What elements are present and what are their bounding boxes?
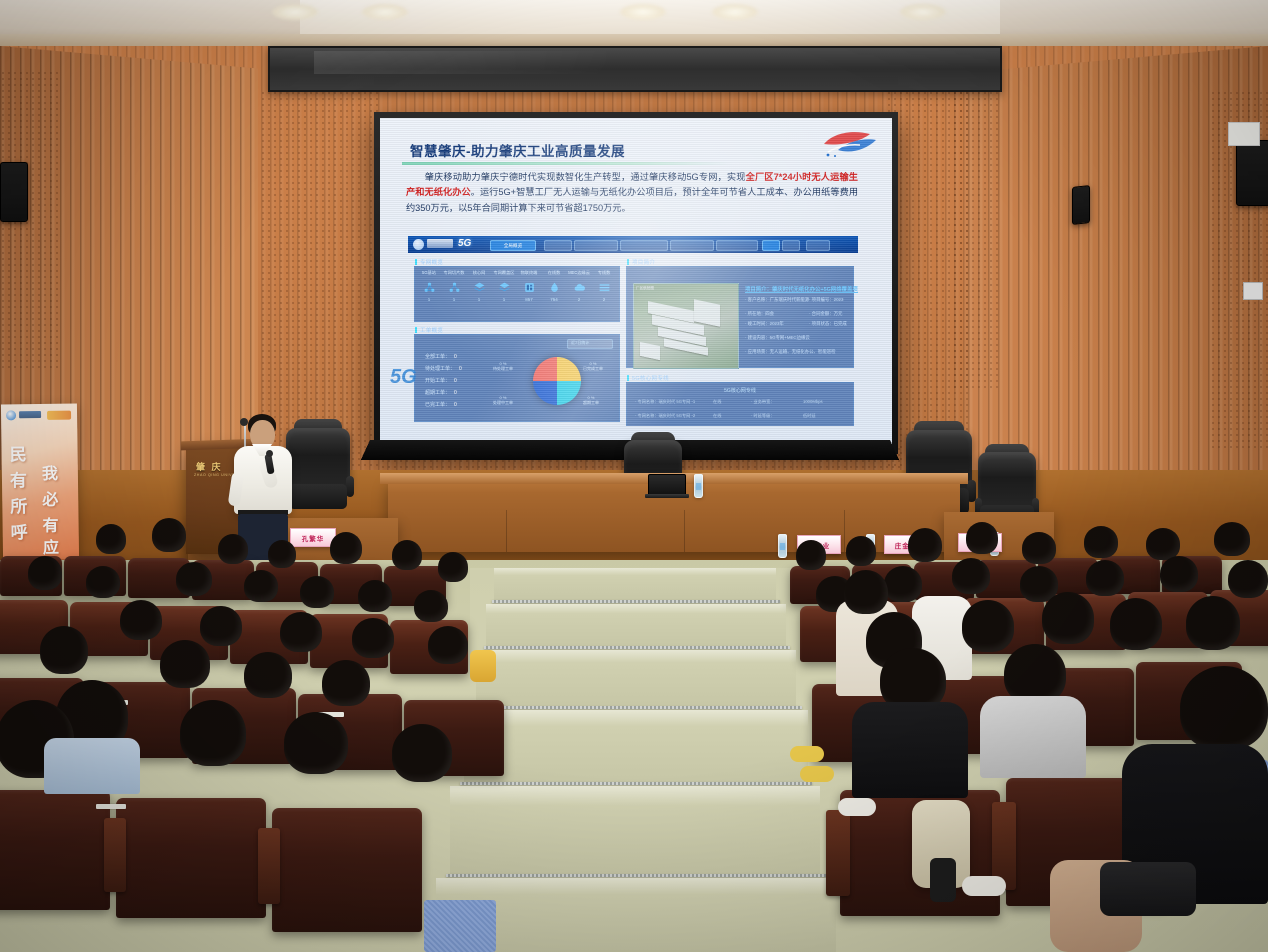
china-mobile-wordmark xyxy=(427,239,453,248)
banner-line2-char1: 我 xyxy=(42,460,58,484)
china-mobile-logo-icon xyxy=(413,239,424,250)
stat-value-2: 1 xyxy=(471,297,487,302)
section-project-title: 项目简介 xyxy=(632,258,655,266)
audience-member-shorts xyxy=(1100,862,1196,916)
soundbar-gloss xyxy=(314,51,606,74)
auditorium-photo: 智慧肇庆-助力肇庆工业高质量发展 肇庆移动助力肇庆宁德时代实现数智化生产转型，通… xyxy=(0,0,1268,952)
seat-number-label xyxy=(96,804,126,809)
banner-line2-char3: 有 xyxy=(42,512,58,536)
dashboard-screenshot: 5G 全局概览 专网概览 5G基站 专网切片 xyxy=(408,236,858,426)
project-row: · 合同金额：万元 xyxy=(809,311,842,317)
audience-member xyxy=(180,700,246,766)
audience-member xyxy=(438,552,468,582)
project-row: · 项目状态：已完成 xyxy=(809,321,847,327)
audience-member xyxy=(844,570,888,614)
nav-tab-active[interactable]: 全局概览 xyxy=(490,240,536,251)
audience-member xyxy=(884,566,922,602)
audience-member xyxy=(1022,532,1056,564)
workorder-range-label: 近7日统计 xyxy=(571,340,589,346)
seat-armrest xyxy=(826,810,850,896)
audience-member xyxy=(352,618,394,658)
audience-member xyxy=(428,626,468,664)
audience-member xyxy=(1086,560,1124,596)
shoe xyxy=(962,876,1006,896)
filter-all[interactable] xyxy=(716,240,758,251)
stat-value-4: 857 xyxy=(521,297,537,302)
banner-line1-char2: 有 xyxy=(10,466,27,491)
section-network-title: 专网概览 xyxy=(420,258,443,266)
led-presentation-screen: 智慧肇庆-助力肇庆工业高质量发展 肇庆移动助力肇庆宁德时代实现数智化生产转型，通… xyxy=(374,112,898,454)
wall-speaker-left xyxy=(0,162,28,222)
workorder-row: 待处理工单：0 xyxy=(425,365,462,372)
project-row: · 应用场景：无人运输、无纸化办公、智能巡检 xyxy=(745,349,836,355)
network-node-icon xyxy=(448,281,461,294)
aisle-step xyxy=(476,650,796,708)
stat-label-3: 专网覆盖区 xyxy=(492,270,516,276)
audience-member xyxy=(40,626,88,674)
stage-laptop[interactable] xyxy=(648,474,686,496)
audience-member xyxy=(218,534,248,564)
filter-center[interactable] xyxy=(670,240,714,251)
project-row: · 项目编号：2023 xyxy=(809,297,843,303)
project-row: · 客户名称：广东瑞庆时代新能源 xyxy=(745,297,809,303)
audience-member xyxy=(392,540,422,570)
stat-value-3: 1 xyxy=(496,297,512,302)
slide-body-text: 肇庆移动助力肇庆宁德时代实现数智化生产转型，通过肇庆移动5G专网，实现全厂区7*… xyxy=(406,170,858,216)
table-row: · 专网名称：瑞庆时代 5G专网 -1 xyxy=(635,399,695,405)
audience-member xyxy=(244,570,278,602)
audience-member xyxy=(1186,596,1240,650)
aisle-step-edge xyxy=(484,646,790,649)
audience-member xyxy=(392,724,452,782)
audience-member xyxy=(330,532,362,564)
droplet-icon xyxy=(548,281,561,294)
audience-member xyxy=(358,580,392,612)
stat-label-1: 专网切片数 xyxy=(442,270,466,276)
aerial-caption: 厂区航拍图 xyxy=(636,286,654,291)
center-aisle xyxy=(470,568,800,952)
china-mobile-wordmark xyxy=(19,411,41,418)
audience-member xyxy=(414,590,448,622)
stat-label-6: MEC边缘云 xyxy=(567,270,591,276)
audience-member xyxy=(268,540,296,568)
banner-badge xyxy=(47,411,71,420)
stat-label-0: 5G基站 xyxy=(417,270,441,276)
auditorium-seat[interactable] xyxy=(116,798,266,918)
filter-factory[interactable] xyxy=(574,240,618,251)
audience-member xyxy=(1214,522,1250,556)
shoe xyxy=(838,798,876,816)
slide-title-underline xyxy=(402,162,732,165)
auditorium-seat[interactable] xyxy=(272,808,422,932)
aisle-step xyxy=(436,878,836,952)
banner-line1-char3: 所 xyxy=(10,492,27,517)
aisle-step-edge xyxy=(472,706,802,709)
microphone-head xyxy=(266,450,273,457)
shoe xyxy=(800,766,834,782)
slide-5g-watermark: 5G xyxy=(390,366,417,389)
wall-speaker-right-inner xyxy=(1072,185,1090,225)
stat-value-1: 1 xyxy=(446,297,462,302)
audience-member xyxy=(322,660,370,706)
audience-member xyxy=(796,540,826,570)
aisle-step-edge xyxy=(446,874,826,877)
network-node-icon xyxy=(423,281,436,294)
audience-member-tshirt xyxy=(852,702,968,798)
china-mobile-logo-icon xyxy=(6,410,16,420)
audience-member xyxy=(28,556,62,590)
audience-member xyxy=(1228,560,1268,598)
banner-line2-char2: 必 xyxy=(42,486,58,510)
wall-speaker-right xyxy=(1236,140,1268,206)
standing-banner: 民 有 所 呼 我 必 有 应 xyxy=(1,403,79,560)
audience-member xyxy=(280,612,322,652)
audience-member xyxy=(300,576,334,608)
banner-line2-char4: 应 xyxy=(43,534,59,558)
filter-base[interactable] xyxy=(620,240,668,251)
table-row: · 时延等级： xyxy=(751,413,775,419)
audience-member-tshirt xyxy=(980,696,1086,778)
section-table-title: 5G核心网专线 xyxy=(632,374,669,382)
fiveg-label: 5G xyxy=(458,238,471,249)
slide-title: 智慧肇庆-助力肇庆工业高质量发展 xyxy=(410,140,625,160)
layers-icon xyxy=(473,281,486,294)
audience-member-shirt xyxy=(44,738,140,794)
backpack-strap xyxy=(930,858,956,902)
cloud-icon xyxy=(573,281,586,294)
table-row: 1000Mbps xyxy=(803,399,823,404)
audience-member xyxy=(952,558,990,594)
body-segment-1: 肇庆移动助力肇庆宁德时代实现数智化生产转型，通过肇庆移动5G专网，实现 xyxy=(406,172,746,182)
workorder-row: 超期工单：0 xyxy=(425,389,457,396)
table-row: · 业务带宽： xyxy=(751,399,775,405)
pie-label-0: 0 %待处理工单 xyxy=(493,361,513,372)
dashboard-topbar: 5G 全局概览 xyxy=(408,236,858,253)
lectern-engraving: 肇 庆 xyxy=(196,460,223,473)
audience-member xyxy=(96,524,126,554)
wall-soundbar-strip xyxy=(268,46,1002,92)
audience-member xyxy=(284,712,348,774)
table-title: 5G核心网专线 xyxy=(627,387,853,394)
stat-value-6: 2 xyxy=(571,297,587,302)
audience-member xyxy=(160,640,210,688)
reset-button[interactable] xyxy=(782,240,800,251)
audience-member xyxy=(86,566,120,598)
workorder-pie-chart xyxy=(533,357,581,405)
ceiling-light xyxy=(900,4,946,20)
slide-surface: 智慧肇庆-助力肇庆工业高质量发展 肇庆移动助力肇庆宁德时代实现数智化生产转型，通… xyxy=(380,118,892,448)
stat-label-2: 核心网 xyxy=(467,270,491,276)
pie-label-2: 0 %超期工单 xyxy=(583,395,599,406)
pie-label-3: 0 %处理中工单 xyxy=(493,395,513,406)
audience-member xyxy=(846,536,876,566)
stat-value-0: 1 xyxy=(421,297,437,302)
auditorium-seat[interactable] xyxy=(0,790,110,910)
ceiling-light xyxy=(620,4,666,20)
aisle-step xyxy=(464,710,808,784)
audience-member xyxy=(1110,598,1162,650)
audience-member xyxy=(1160,556,1198,592)
body-segment-3: 。运行5G+智慧工厂无人运输与无纸化办公项目后，预计全年可节省人工成本、办公用纸… xyxy=(406,187,858,212)
workorder-row: 全部工单：0 xyxy=(425,353,457,360)
stat-value-7: 2 xyxy=(596,297,612,302)
table-row: 在线 xyxy=(713,399,721,405)
perforated-acoustic-panel xyxy=(260,90,380,470)
seat-armrest xyxy=(258,828,280,904)
banner-line1-char4: 呼 xyxy=(11,518,28,543)
lines-icon xyxy=(598,281,611,294)
line-table-card: 5G核心网专线 · 专网名称：瑞庆时代 5G专网 -1 在线 · 业务带宽： 1… xyxy=(626,382,854,426)
audience-member xyxy=(966,522,998,554)
ceiling-light xyxy=(362,4,408,20)
shoe xyxy=(790,746,824,762)
audience-member xyxy=(244,652,292,698)
project-card: 厂区航拍图 项目简介：肇庆时代无纸化办公+5G网络覆盖项目 · 客户名称：广东瑞… xyxy=(626,266,854,368)
network-stats-card: 5G基站 专网切片数 核心网 专网覆盖区 物联终端 在线数 MEC边缘云 专线数 xyxy=(414,266,620,322)
audience-member xyxy=(176,562,212,596)
project-row: · 所在地：四会 xyxy=(745,311,774,317)
audience-member xyxy=(120,600,162,640)
name-card-text: 孔繁华 xyxy=(302,533,325,543)
pie-label-1: 0 %已完成工单 xyxy=(583,361,603,372)
aisle-step-edge xyxy=(460,782,812,785)
stat-label-7: 专线数 xyxy=(592,270,616,276)
aisle-step xyxy=(486,604,786,648)
aisle-step xyxy=(450,786,820,876)
aisle-step xyxy=(494,568,776,602)
table-row: · 专网名称：瑞庆时代 5G专网 -2 xyxy=(635,413,695,419)
banner-line1-char1: 民 xyxy=(9,440,26,465)
seat-armrest xyxy=(104,818,126,892)
stat-value-5: 754 xyxy=(546,297,562,302)
water-bottle[interactable] xyxy=(778,534,787,558)
wall-notice-card xyxy=(1228,122,1260,146)
wall-control-plate[interactable] xyxy=(1243,282,1263,300)
perforated-acoustic-panel xyxy=(952,60,1002,390)
section-workorder-title: 工单概览 xyxy=(420,326,443,334)
ceiling-light xyxy=(272,4,318,20)
ceiling-light xyxy=(712,4,758,20)
stat-label-4: 物联终端 xyxy=(517,270,541,276)
project-row: · 竣工时间：2023年 xyxy=(745,321,784,327)
tote-bag xyxy=(470,650,496,682)
audience-member xyxy=(908,528,942,562)
project-row: · 建设内容：5G专网+MEC边缘云 xyxy=(745,335,810,341)
table-row: 在线 xyxy=(713,413,721,419)
layers-icon xyxy=(498,281,511,294)
query-button[interactable] xyxy=(762,240,780,251)
audience-member xyxy=(1004,644,1066,704)
audience-member xyxy=(1180,666,1268,750)
table-row: 低时延 xyxy=(803,413,816,419)
audience-member xyxy=(1042,592,1094,644)
audience-member xyxy=(152,518,186,552)
stat-label-5: 在线数 xyxy=(542,270,566,276)
audience-member xyxy=(1084,526,1118,558)
workorder-row: 开始工单：0 xyxy=(425,377,457,384)
factory-aerial-photo: 厂区航拍图 xyxy=(633,283,739,369)
workorder-card: 近7日统计 全部工单：0 待处理工单：0 开始工单：0 超期工单：0 已完工单：… xyxy=(414,334,620,422)
project-title[interactable]: 项目简介：肇庆时代无纸化办公+5G网络覆盖项目 xyxy=(745,285,858,293)
export-button[interactable] xyxy=(806,240,830,251)
jiaodexian-ban-weilai-logo xyxy=(820,128,878,158)
seat-cushion xyxy=(424,900,496,952)
aisle-step-edge xyxy=(492,600,780,603)
filter-group[interactable] xyxy=(544,240,572,251)
server-icon xyxy=(523,281,536,294)
workorder-row: 已完工单：0 xyxy=(425,401,457,408)
water-bottle[interactable] xyxy=(694,474,703,498)
